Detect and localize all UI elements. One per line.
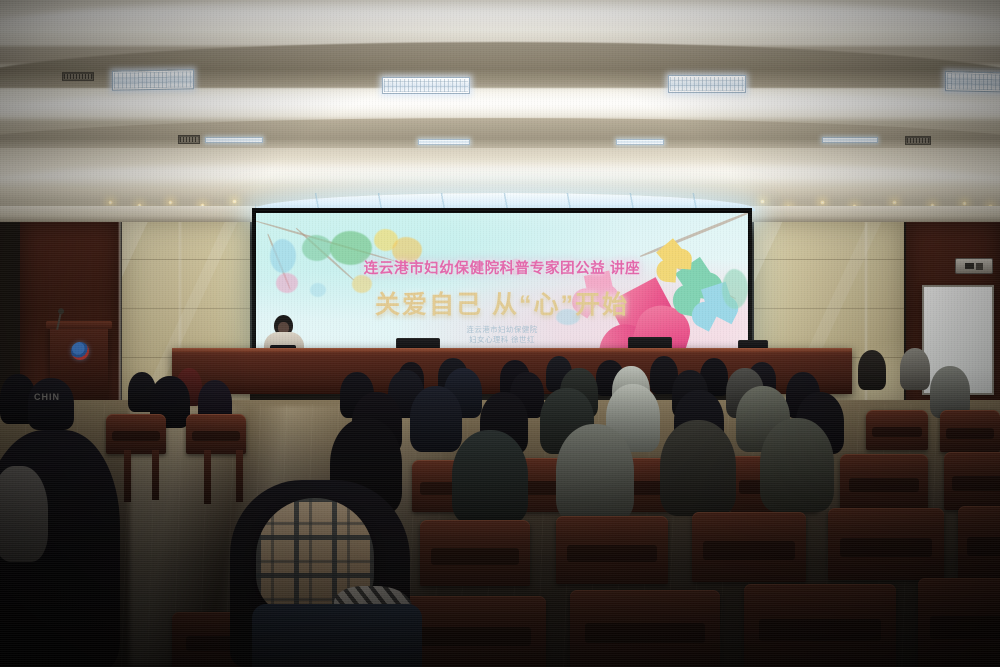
audience-member	[660, 420, 736, 516]
chair	[106, 414, 166, 454]
chair	[186, 414, 246, 454]
recessed-panel-light	[945, 71, 1000, 93]
foreground-collar	[0, 466, 48, 562]
chair	[944, 452, 1000, 510]
foreground-shoulder	[252, 604, 422, 667]
chair-leg	[152, 450, 159, 500]
chair-leg	[236, 450, 243, 502]
chair	[556, 516, 668, 584]
air-vent-grille	[905, 136, 931, 145]
led-presentation-screen: 连云港市妇幼保健院科普专家团公益 讲座 关爱自己 从“心”开始 连云港市妇幼保健…	[256, 213, 748, 353]
strip-light	[822, 137, 878, 143]
ceiling-beam-curved-2	[0, 118, 1000, 148]
air-vent-grille	[178, 135, 200, 144]
screen-subtitle-line1: 连云港市妇幼保健院	[256, 325, 748, 335]
ceiling-light-band-2	[0, 86, 1000, 120]
jacket-text: CHIN	[34, 392, 60, 402]
watercolor-branch	[640, 213, 748, 257]
led-display-bezel: 连云港市妇幼保健院科普专家团公益 讲座 关爱自己 从“心”开始 连云港市妇幼保健…	[252, 208, 752, 358]
recessed-panel-light	[382, 77, 470, 94]
ceiling-light-band-3	[0, 160, 1000, 186]
chair-leg	[124, 450, 131, 502]
screen-heading: 连云港市妇幼保健院科普专家团公益 讲座	[256, 257, 748, 278]
chair	[940, 410, 1000, 452]
chair	[866, 410, 928, 450]
audience-member	[760, 418, 834, 512]
strip-light	[418, 139, 470, 145]
screen-subtitle: 连云港市妇幼保健院 妇女心理科 徐世红	[256, 325, 748, 345]
strip-light	[205, 137, 263, 143]
institution-emblem-icon	[71, 342, 89, 360]
recessed-panel-light	[668, 75, 746, 93]
chair	[570, 590, 720, 667]
audience-member	[556, 424, 634, 522]
recessed-panel-light	[112, 69, 194, 90]
chair	[744, 584, 896, 667]
ceiling	[0, 0, 1000, 215]
audience-member	[410, 386, 462, 452]
audience-member	[900, 348, 930, 390]
air-vent-grille	[62, 72, 94, 81]
auditorium-photo: 连云港市妇幼保健院科普专家团公益 讲座 关爱自己 从“心”开始 连云港市妇幼保健…	[0, 0, 1000, 667]
audience-member	[452, 430, 528, 524]
chair	[918, 578, 1000, 667]
wall-notice-sign	[955, 258, 993, 274]
chair	[840, 454, 928, 510]
chair	[692, 512, 806, 582]
chair	[420, 520, 530, 586]
screen-main-title: 关爱自己 从“心”开始	[256, 285, 748, 321]
chair-leg	[204, 450, 211, 504]
audience-member	[858, 350, 886, 390]
screen-subtitle-line2: 妇女心理科 徐世红	[256, 335, 748, 345]
ceiling-light-band-1	[0, 0, 1000, 34]
chair	[828, 508, 944, 580]
audience-member-china-jacket	[28, 378, 74, 430]
chair	[958, 506, 1000, 580]
strip-light	[616, 139, 664, 145]
